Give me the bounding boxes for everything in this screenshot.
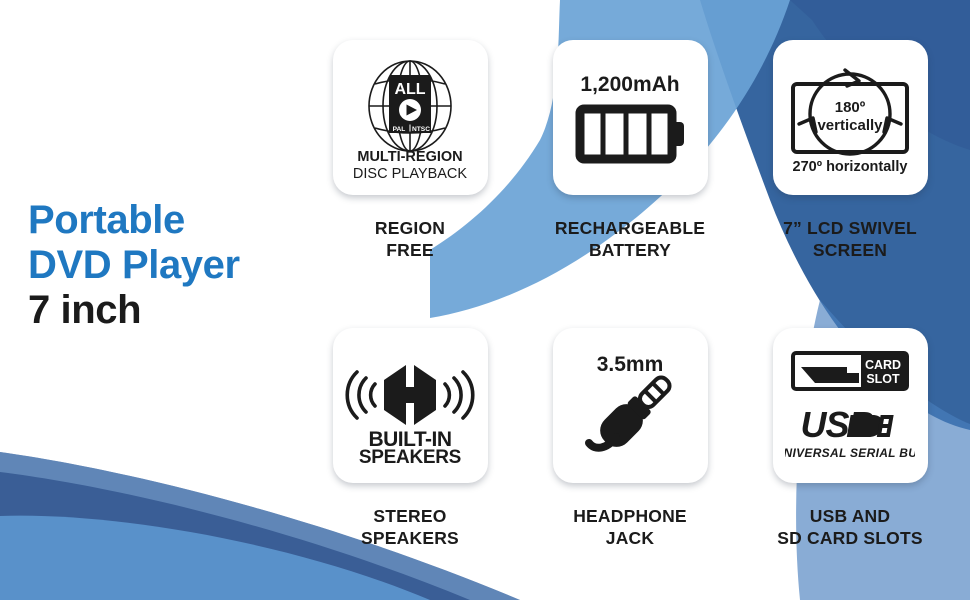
multi-region-globe-icon: ALL PAL NTSC MULTI-REGION DISC PLAYBACK: [344, 54, 476, 182]
caption-line-2: SD CARD SLOTS: [740, 527, 960, 549]
feature-stereo-speakers: BUILT-IN SPEAKERS STEREO SPEAKERS: [300, 328, 520, 550]
feature-card: 180º vertically 270º horizontally: [773, 40, 928, 195]
feature-card: CARD SLOT USB UNIVERSAL SERIAL BUS: [773, 328, 928, 483]
feature-usb-sd-card-slots: CARD SLOT USB UNIVERSAL SERIAL BUS: [740, 328, 960, 550]
region-pal-label: PAL: [393, 126, 406, 133]
title-line-2: DVD Player: [28, 243, 318, 288]
caption-line-2: SCREEN: [740, 239, 960, 261]
feature-region-free: ALL PAL NTSC MULTI-REGION DISC PLAYBACK …: [300, 40, 520, 262]
feature-caption: 7” LCD SWIVEL SCREEN: [740, 217, 960, 262]
usb-full-name: UNIVERSAL SERIAL BUS: [785, 446, 915, 460]
caption-line-1: STEREO: [300, 505, 520, 527]
caption-line-2: BATTERY: [520, 239, 740, 261]
region-all-label: ALL: [394, 81, 425, 98]
feature-card: BUILT-IN SPEAKERS: [333, 328, 488, 483]
feature-card: 3.5mm: [553, 328, 708, 483]
caption-line-2: JACK: [520, 527, 740, 549]
built-in-speakers-icon: BUILT-IN SPEAKERS: [344, 347, 476, 465]
caption-line-1: HEADPHONE: [520, 505, 740, 527]
feature-card: 1,200mAh: [553, 40, 708, 195]
feature-caption: REGION FREE: [300, 217, 520, 262]
feature-caption: STEREO SPEAKERS: [300, 505, 520, 550]
disc-playback-subtitle: DISC PLAYBACK: [353, 166, 467, 182]
feature-rechargeable-battery: 1,200mAh RECHARGEABLE BATTERY: [520, 40, 740, 262]
usb-card-slot-icon: CARD SLOT USB UNIVERSAL SERIAL BUS: [785, 345, 915, 467]
battery-icon: 1,200mAh: [566, 65, 694, 171]
caption-line-2: SPEAKERS: [300, 527, 520, 549]
feature-card: ALL PAL NTSC MULTI-REGION DISC PLAYBACK: [333, 40, 488, 195]
feature-headphone-jack: 3.5mm HEADPHONE: [520, 328, 740, 550]
feature-lcd-swivel-screen: 180º vertically 270º horizontally 7” LCD…: [740, 40, 960, 262]
vertical-label: vertically: [817, 117, 883, 134]
headphone-jack-icon: 3.5mm: [567, 345, 693, 467]
product-feature-infographic: Portable DVD Player 7 inch: [0, 0, 970, 600]
caption-line-1: USB AND: [740, 505, 960, 527]
vertical-degrees-label: 180º: [835, 99, 866, 116]
caption-line-2: FREE: [300, 239, 520, 261]
feature-caption: USB AND SD CARD SLOTS: [740, 505, 960, 550]
card-label: CARD: [865, 358, 901, 372]
feature-grid: ALL PAL NTSC MULTI-REGION DISC PLAYBACK …: [300, 40, 960, 580]
multi-region-title: MULTI-REGION: [357, 149, 462, 165]
horizontal-degrees-label: 270º horizontally: [793, 159, 908, 175]
speakers-subtitle: SPEAKERS: [359, 447, 461, 465]
title-line-1: Portable: [28, 198, 318, 243]
feature-caption: HEADPHONE JACK: [520, 505, 740, 550]
caption-line-1: REGION: [300, 217, 520, 239]
caption-line-1: 7” LCD SWIVEL: [740, 217, 960, 239]
swivel-screen-icon: 180º vertically 270º horizontally: [783, 56, 917, 180]
slot-label: SLOT: [866, 372, 900, 386]
caption-line-1: RECHARGEABLE: [520, 217, 740, 239]
page-title: Portable DVD Player 7 inch: [28, 198, 318, 332]
title-line-3: 7 inch: [28, 288, 318, 333]
region-ntsc-label: NTSC: [412, 126, 430, 133]
feature-caption: RECHARGEABLE BATTERY: [520, 217, 740, 262]
battery-capacity-label: 1,200mAh: [580, 73, 679, 96]
card-slot-badge: CARD SLOT: [793, 353, 907, 389]
jack-size-label: 3.5mm: [597, 353, 664, 376]
